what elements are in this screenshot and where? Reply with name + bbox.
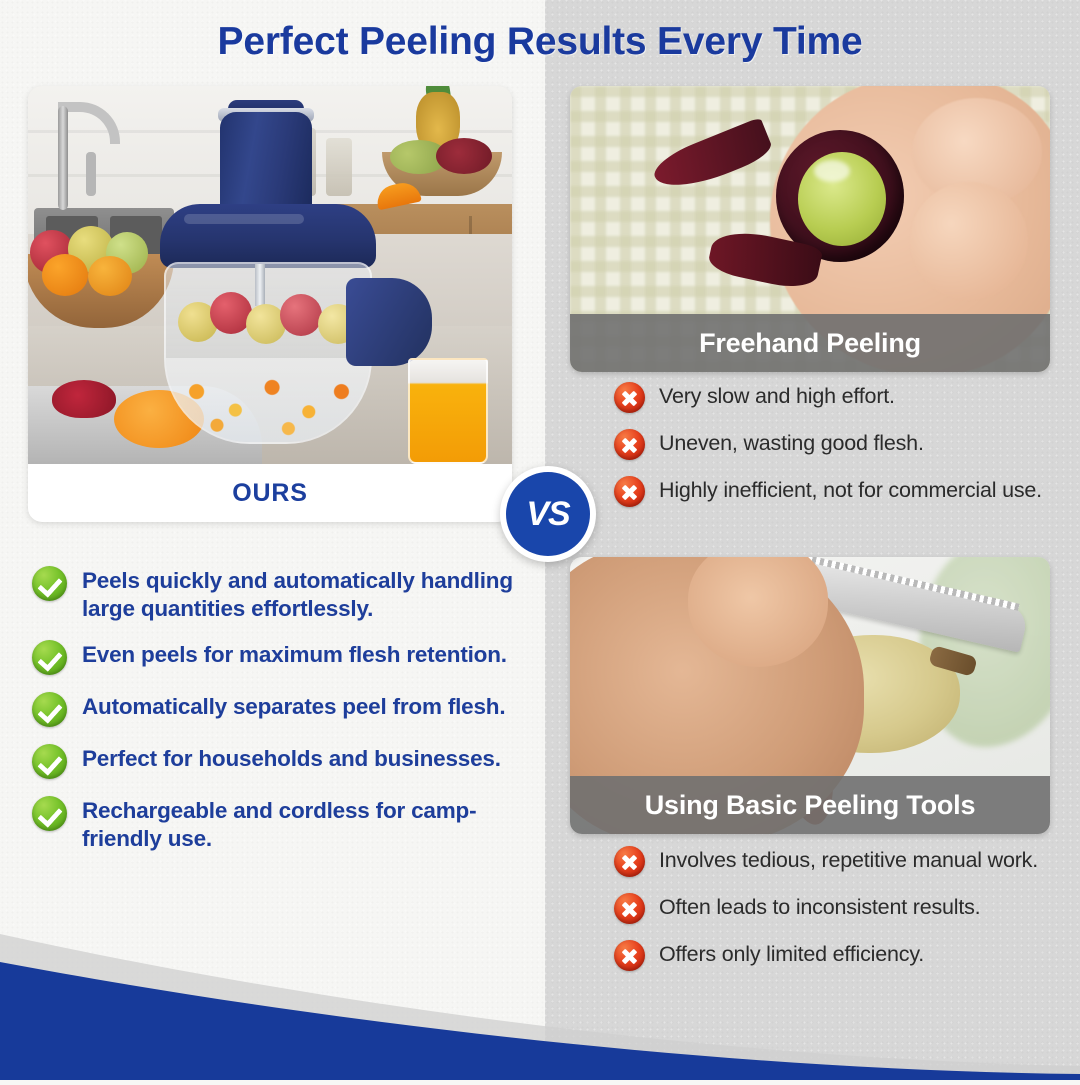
list-item: Perfect for households and businesses. [32,744,542,779]
swoosh-svg [0,890,1080,1080]
check-icon [32,796,67,831]
list-item: Even peels for maximum flesh retention. [32,640,542,675]
orange-juice-glass [408,358,488,464]
check-icon [32,692,67,727]
cross-icon [614,429,645,460]
cross-icon [614,382,645,413]
list-item: Peels quickly and automatically handling… [32,566,542,623]
competitor-card-basic-tools: Using Basic Peeling Tools [570,557,1050,834]
card-caption: Freehand Peeling [570,314,1050,372]
ours-label: OURS [28,464,512,522]
vs-badge-icon: VS [500,466,596,562]
cons-list-freehand: Very slow and high effort. Uneven, wasti… [614,382,1044,523]
list-item: Involves tedious, repetitive manual work… [614,846,1044,877]
bottom-swoosh-decoration [0,890,1080,1080]
check-icon [32,640,67,675]
list-item: Rechargeable and cordless for camp-frien… [32,796,542,853]
fruit-bowl-left [28,226,168,296]
con-text: Very slow and high effort. [659,382,895,410]
pros-list: Peels quickly and automatically handling… [32,566,542,870]
competitor-card-freehand: Freehand Peeling [570,86,1050,372]
cross-icon [614,846,645,877]
card-caption: Using Basic Peeling Tools [570,776,1050,834]
con-text: Highly inefficient, not for commercial u… [659,476,1042,504]
pro-text: Automatically separates peel from flesh. [82,692,505,721]
ours-product-photo [28,86,512,464]
pro-text: Peels quickly and automatically handling… [82,566,542,623]
check-icon [32,566,67,601]
check-icon [32,744,67,779]
kitchen-scene-illustration [28,86,512,464]
pro-text: Even peels for maximum flesh retention. [82,640,507,669]
con-text: Uneven, wasting good flesh. [659,429,924,457]
list-item: Highly inefficient, not for commercial u… [614,476,1044,507]
ours-card: OURS [28,86,512,522]
page-title: Perfect Peeling Results Every Time [0,20,1080,64]
cross-icon [614,476,645,507]
list-item: Very slow and high effort. [614,382,1044,413]
list-item: Automatically separates peel from flesh. [32,692,542,727]
appliance-bowl [164,262,372,444]
pro-text: Perfect for households and businesses. [82,744,501,773]
con-text: Involves tedious, repetitive manual work… [659,846,1038,874]
pro-text: Rechargeable and cordless for camp-frien… [82,796,542,853]
list-item: Uneven, wasting good flesh. [614,429,1044,460]
